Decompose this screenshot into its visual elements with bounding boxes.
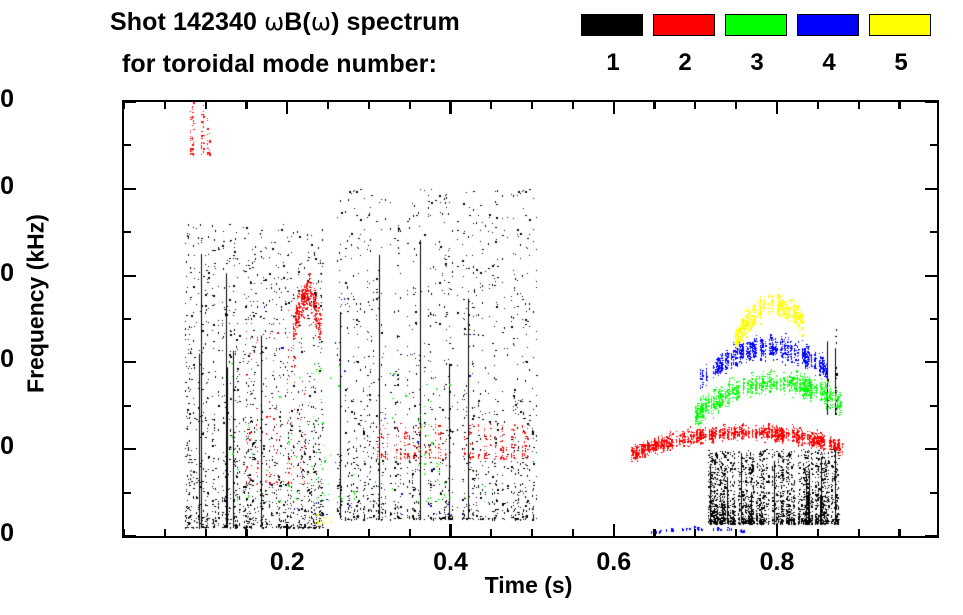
x-tick xyxy=(694,102,696,109)
y-tick xyxy=(925,535,937,537)
x-tick xyxy=(286,524,288,536)
x-tick xyxy=(613,102,615,114)
x-tick xyxy=(653,102,655,109)
x-tick xyxy=(613,524,615,536)
y-tick xyxy=(124,275,136,277)
x-tick xyxy=(123,529,125,536)
y-tick xyxy=(124,448,136,450)
x-axis-label: Time (s) xyxy=(122,572,935,599)
y-tick-label: 40 xyxy=(0,347,14,372)
y-tick xyxy=(124,492,131,494)
x-tick-label: 0.4 xyxy=(391,550,511,575)
y-tick xyxy=(124,318,131,320)
legend-item-1[interactable]: 1 xyxy=(581,14,645,36)
x-tick xyxy=(409,529,411,536)
y-tick xyxy=(930,492,937,494)
x-tick xyxy=(898,529,900,536)
x-tick xyxy=(817,102,819,109)
legend-swatch-5 xyxy=(869,14,931,36)
x-tick xyxy=(286,102,288,114)
x-tick xyxy=(490,102,492,109)
y-tick xyxy=(124,361,136,363)
y-tick xyxy=(930,231,937,233)
x-tick xyxy=(817,529,819,536)
x-tick xyxy=(123,102,125,109)
legend-swatch-2 xyxy=(653,14,715,36)
y-tick xyxy=(124,405,131,407)
legend-item-5[interactable]: 5 xyxy=(869,14,933,36)
title-shot-text: Shot 142340 xyxy=(110,8,264,36)
x-tick xyxy=(572,102,574,109)
x-tick xyxy=(449,102,451,114)
legend-label-2: 2 xyxy=(653,50,717,76)
legend-swatch-1 xyxy=(581,14,643,36)
x-tick xyxy=(776,524,778,536)
x-tick xyxy=(572,529,574,536)
y-tick xyxy=(124,231,131,233)
legend-label-3: 3 xyxy=(725,50,789,76)
x-tick xyxy=(776,102,778,114)
x-tick xyxy=(205,529,207,536)
x-tick xyxy=(205,102,207,109)
x-tick xyxy=(164,529,166,536)
x-tick-label: 0.8 xyxy=(717,550,837,575)
y-tick xyxy=(925,188,937,190)
omega-symbol-2: ω xyxy=(311,8,331,36)
y-tick-label: 60 xyxy=(0,261,14,286)
y-tick xyxy=(930,318,937,320)
x-tick-label: 0.2 xyxy=(227,550,347,575)
x-tick xyxy=(368,102,370,109)
x-tick xyxy=(858,529,860,536)
plot-area: 0.20.40.60.8 xyxy=(122,100,939,538)
figure-title-line-2: for toroidal mode number: xyxy=(122,52,437,77)
legend: 12345 xyxy=(581,14,941,88)
legend-item-2[interactable]: 2 xyxy=(653,14,717,36)
legend-label-4: 4 xyxy=(797,50,861,76)
omega-symbol-1: ω xyxy=(264,8,284,36)
y-tick xyxy=(930,405,937,407)
legend-swatch-4 xyxy=(797,14,859,36)
x-tick xyxy=(531,529,533,536)
x-tick xyxy=(694,529,696,536)
spectrogram-canvas xyxy=(124,102,937,536)
legend-item-3[interactable]: 3 xyxy=(725,14,789,36)
x-tick xyxy=(368,529,370,536)
x-tick xyxy=(409,102,411,109)
spectrogram-figure: Shot 142340 ωB(ω) spectrum for toroidal … xyxy=(0,0,963,615)
x-tick xyxy=(490,529,492,536)
x-tick xyxy=(245,529,247,536)
title-b-text: B( xyxy=(284,8,311,36)
y-tick-label: 100 xyxy=(0,87,14,112)
x-tick xyxy=(327,529,329,536)
x-tick xyxy=(735,529,737,536)
y-tick xyxy=(925,448,937,450)
y-tick xyxy=(925,361,937,363)
legend-label-1: 1 xyxy=(581,50,645,76)
legend-swatch-3 xyxy=(725,14,787,36)
y-tick-label: 0 xyxy=(0,521,14,546)
y-tick xyxy=(124,188,136,190)
x-tick xyxy=(858,102,860,109)
y-tick xyxy=(124,535,136,537)
x-tick xyxy=(735,102,737,109)
x-tick xyxy=(531,102,533,109)
y-tick xyxy=(930,144,937,146)
x-tick xyxy=(653,529,655,536)
x-tick xyxy=(164,102,166,109)
x-tick xyxy=(327,102,329,109)
x-tick xyxy=(449,524,451,536)
y-tick xyxy=(925,101,937,103)
y-tick xyxy=(124,144,131,146)
legend-label-5: 5 xyxy=(869,50,933,76)
y-tick-label: 20 xyxy=(0,434,14,459)
legend-item-4[interactable]: 4 xyxy=(797,14,861,36)
spectrogram-canvas-wrap xyxy=(124,102,937,536)
title-spectrum-text: ) spectrum xyxy=(331,8,460,36)
figure-title-line-1: Shot 142340 ωB(ω) spectrum xyxy=(110,10,460,35)
x-tick xyxy=(898,102,900,109)
y-axis-label: Frequency (kHz) xyxy=(23,184,50,424)
y-tick-label: 80 xyxy=(0,174,14,199)
x-tick-label: 0.6 xyxy=(554,550,674,575)
x-tick xyxy=(245,102,247,109)
y-tick xyxy=(925,275,937,277)
y-tick xyxy=(124,101,136,103)
